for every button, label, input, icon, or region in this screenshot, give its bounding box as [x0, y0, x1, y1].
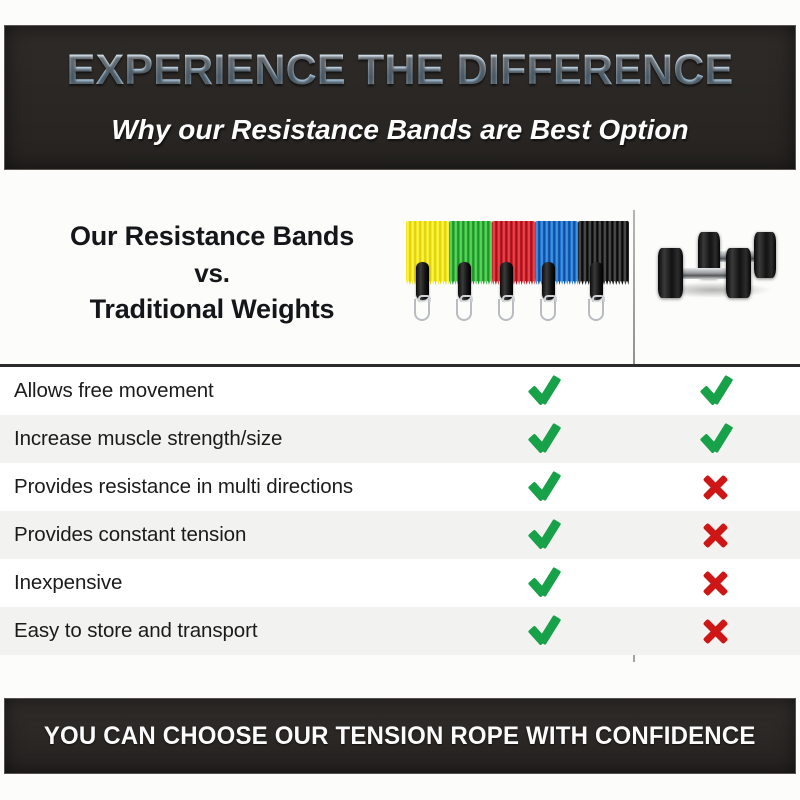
bands-cell: [457, 376, 631, 406]
feature-label: Easy to store and transport: [0, 619, 457, 643]
bands-cell: [457, 424, 631, 454]
check-icon: [701, 424, 731, 454]
comparison-title-line-1: Our Resistance Bands: [70, 218, 354, 255]
feature-label: Inexpensive: [0, 571, 457, 595]
check-icon: [529, 568, 559, 598]
comparison-table: Our Resistance Bands vs. Traditional Wei…: [0, 182, 800, 672]
bands-cell: [457, 520, 631, 550]
table-row: Easy to store and transport: [0, 607, 800, 655]
table-row: Allows free movement: [0, 367, 800, 415]
comparison-title-line-2: vs.: [194, 256, 230, 292]
cross-icon: [703, 618, 729, 644]
black-band-icon: [578, 221, 629, 281]
carabiner-clip-icon: [588, 299, 604, 321]
check-icon: [529, 616, 559, 646]
carabiner-clip-icon: [456, 299, 472, 321]
feature-rows: Allows free movement Increase muscle str…: [0, 367, 800, 655]
table-header: Our Resistance Bands vs. Traditional Wei…: [0, 182, 800, 364]
table-row: Increase muscle strength/size: [0, 415, 800, 463]
weights-cell: [631, 570, 800, 596]
resistance-bands-image: [406, 221, 627, 331]
footer-text: YOU CAN CHOOSE OUR TENSION ROPE WITH CON…: [44, 722, 756, 751]
weights-cell: [631, 522, 800, 548]
cross-icon: [703, 570, 729, 596]
weights-cell: [631, 376, 800, 406]
bands-cell: [457, 616, 631, 646]
bottom-banner: YOU CAN CHOOSE OUR TENSION ROPE WITH CON…: [4, 698, 796, 774]
weights-cell: [631, 424, 800, 454]
feature-label: Provides constant tension: [0, 523, 457, 547]
top-banner: EXPERIENCE THE DIFFERENCE Why our Resist…: [4, 25, 796, 170]
feature-label: Allows free movement: [0, 379, 457, 403]
check-icon: [529, 424, 559, 454]
dumbbells-image: [648, 216, 794, 328]
red-band-icon: [492, 221, 535, 281]
page-subtitle: Why our Resistance Bands are Best Option: [111, 114, 688, 146]
bands-cell: [457, 568, 631, 598]
feature-label: Increase muscle strength/size: [0, 427, 457, 451]
check-icon: [701, 376, 731, 406]
check-icon: [529, 520, 559, 550]
page-title: EXPERIENCE THE DIFFERENCE: [67, 49, 734, 92]
bands-cell: [457, 472, 631, 502]
carabiner-clip-icon: [414, 299, 430, 321]
carabiner-clip-icon: [498, 299, 514, 321]
comparison-title-line-3: Traditional Weights: [90, 291, 335, 328]
check-icon: [529, 472, 559, 502]
table-row: Provides resistance in multi directions: [0, 463, 800, 511]
weights-cell: [631, 618, 800, 644]
carabiner-clip-icon: [540, 299, 556, 321]
table-row: Inexpensive: [0, 559, 800, 607]
feature-label: Provides resistance in multi directions: [0, 475, 457, 499]
cross-icon: [703, 474, 729, 500]
table-row: Provides constant tension: [0, 511, 800, 559]
weights-cell: [631, 474, 800, 500]
comparison-title: Our Resistance Bands vs. Traditional Wei…: [14, 196, 410, 351]
check-icon: [529, 376, 559, 406]
cross-icon: [703, 522, 729, 548]
